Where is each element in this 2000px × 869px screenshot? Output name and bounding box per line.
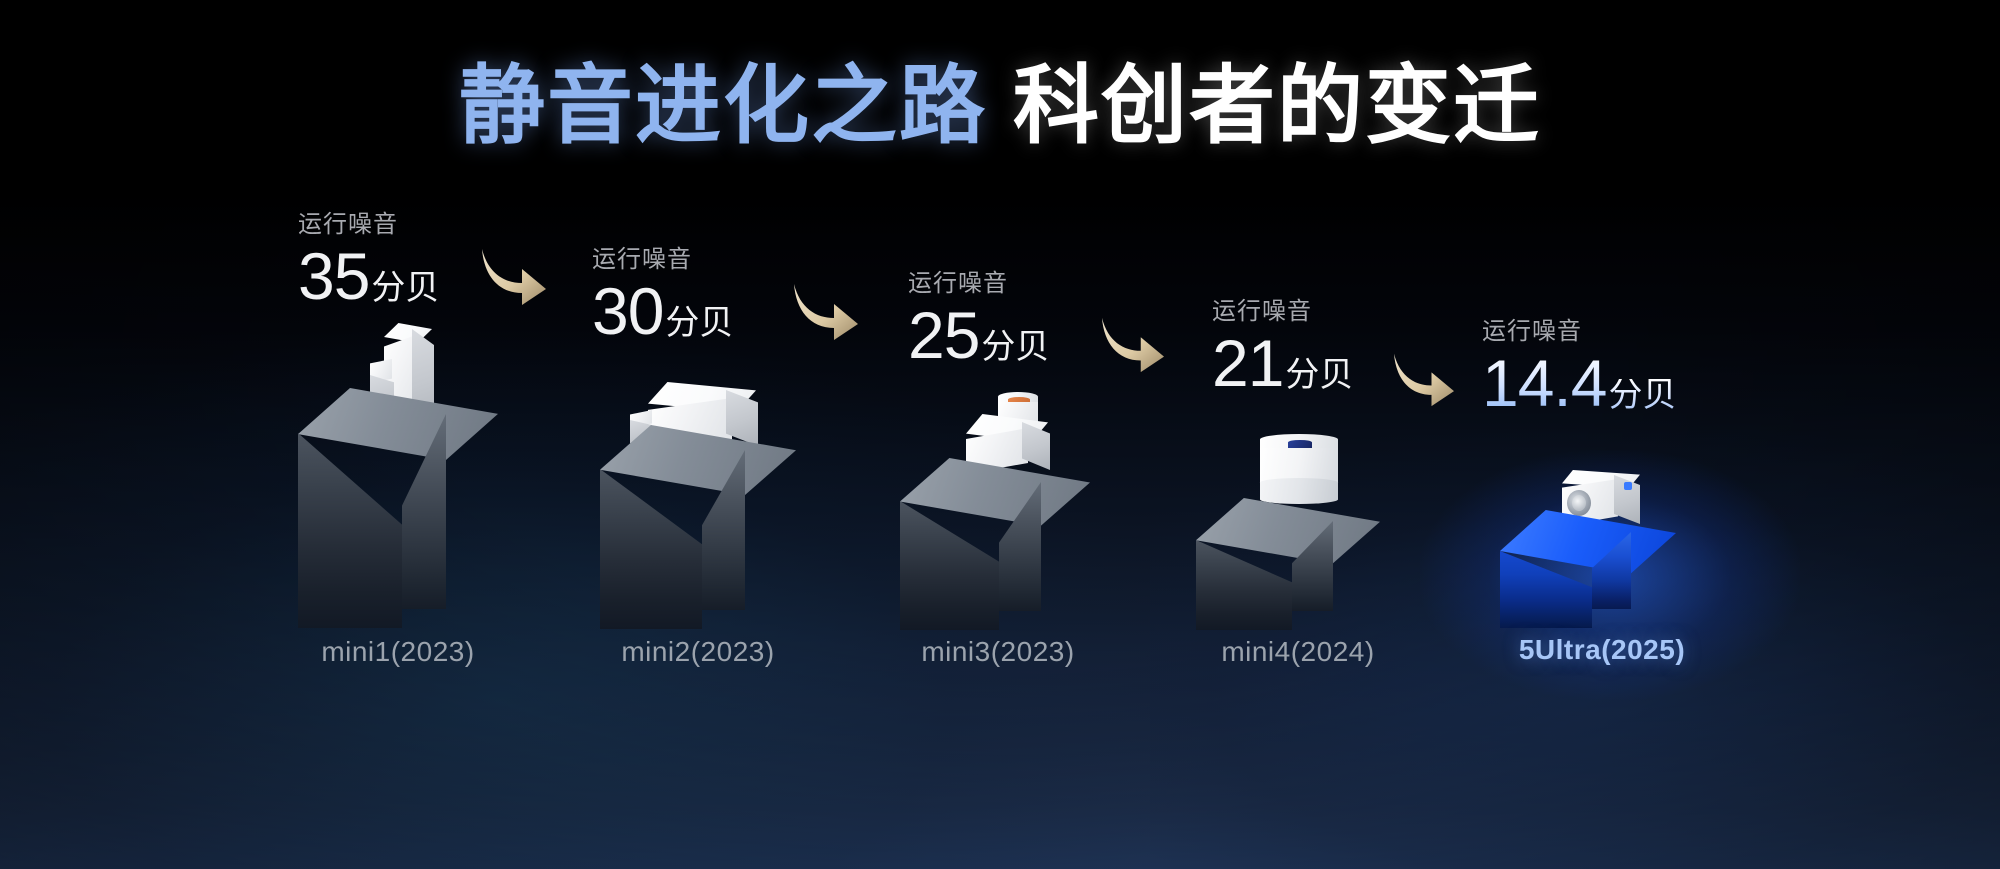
noise-value-2: 30 [592, 280, 663, 343]
noise-unit-3: 分贝 [981, 331, 1049, 363]
title-highlight-text: 静音进化之路 [459, 58, 987, 154]
page-title: 静音进化之路科创者的变迁 [0, 58, 2000, 154]
noise-value-1: 35 [298, 245, 369, 308]
noise-label-2: 运行噪音 30 分贝 [592, 248, 733, 343]
noise-caption-4: 运行噪音 [1212, 300, 1353, 324]
arrow-icon-1 [478, 243, 550, 307]
podium-5 [1500, 510, 1676, 628]
model-label-3: mini3(2023) [868, 636, 1128, 668]
noise-value-3: 25 [908, 304, 979, 367]
podium-1 [298, 388, 498, 628]
noise-value-5: 14.4 [1482, 352, 1606, 415]
noise-unit-2: 分贝 [665, 307, 733, 339]
noise-caption-1: 运行噪音 [298, 213, 439, 237]
noise-label-4: 运行噪音 21 分贝 [1212, 300, 1353, 395]
slide-canvas: 静音进化之路科创者的变迁 运行噪音 35 分贝 mini1(2023) [0, 0, 2000, 869]
arrow-icon-2 [790, 278, 862, 342]
noise-label-5: 运行噪音 14.4 分贝 [1482, 320, 1676, 415]
noise-caption-5: 运行噪音 [1482, 320, 1676, 344]
noise-value-4: 21 [1212, 332, 1283, 395]
arrow-icon-4 [1390, 348, 1458, 408]
model-label-5: 5Ultra(2025) [1482, 634, 1722, 666]
model-label-1: mini1(2023) [268, 636, 528, 668]
noise-unit-1: 分贝 [371, 272, 439, 304]
noise-unit-4: 分贝 [1285, 359, 1353, 391]
podium-4 [1196, 498, 1380, 630]
noise-caption-3: 运行噪音 [908, 272, 1049, 296]
arrow-icon-3 [1098, 312, 1168, 374]
product-model-4 [1250, 434, 1350, 504]
title-plain-text: 科创者的变迁 [1013, 58, 1541, 154]
noise-unit-5: 分贝 [1608, 379, 1676, 411]
model-label-4: mini4(2024) [1168, 636, 1428, 668]
noise-caption-2: 运行噪音 [592, 248, 733, 272]
noise-label-3: 运行噪音 25 分贝 [908, 272, 1049, 367]
noise-label-1: 运行噪音 35 分贝 [298, 213, 439, 308]
model-label-2: mini2(2023) [568, 636, 828, 668]
podium-3 [900, 458, 1090, 630]
podium-2 [600, 425, 796, 629]
